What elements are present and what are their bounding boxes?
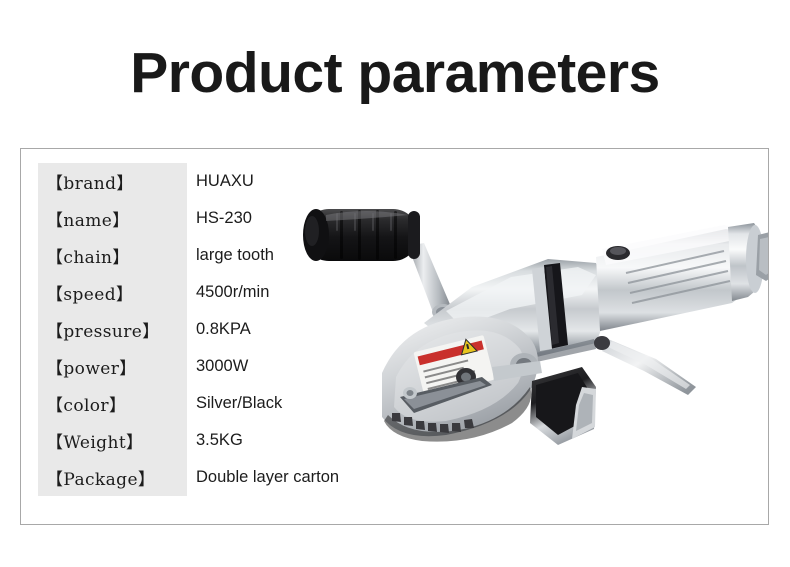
spec-value: HUAXU <box>187 163 339 200</box>
table-row: 【name】 HS-230 <box>38 200 339 237</box>
spec-value: Double layer carton <box>187 459 339 496</box>
table-row: 【brand】 HUAXU <box>38 163 339 200</box>
table-row: 【Package】 Double layer carton <box>38 459 339 496</box>
spec-value: HS-230 <box>187 200 339 237</box>
table-row: 【speed】 4500r/min <box>38 274 339 311</box>
spec-label: 【speed】 <box>38 274 187 311</box>
spec-label: 【Weight】 <box>38 422 187 459</box>
spec-label: 【Package】 <box>38 459 187 496</box>
spec-label: 【power】 <box>38 348 187 385</box>
spec-value: 4500r/min <box>187 274 339 311</box>
table-row: 【Weight】 3.5KG <box>38 422 339 459</box>
spec-label: 【color】 <box>38 385 187 422</box>
spec-label: 【brand】 <box>38 163 187 200</box>
spec-table: 【brand】 HUAXU 【name】 HS-230 【chain】 larg… <box>38 163 339 496</box>
spec-value: Silver/Black <box>187 385 339 422</box>
spec-value: 3.5KG <box>187 422 339 459</box>
table-row: 【color】 Silver/Black <box>38 385 339 422</box>
spec-label: 【chain】 <box>38 237 187 274</box>
page-title: Product parameters <box>0 44 790 104</box>
table-row: 【power】 3000W <box>38 348 339 385</box>
spec-value: large tooth <box>187 237 339 274</box>
table-row: 【chain】 large tooth <box>38 237 339 274</box>
spec-label: 【name】 <box>38 200 187 237</box>
spec-card: 【brand】 HUAXU 【name】 HS-230 【chain】 larg… <box>20 148 769 525</box>
table-row: 【pressure】 0.8KPA <box>38 311 339 348</box>
spec-value: 3000W <box>187 348 339 385</box>
spec-value: 0.8KPA <box>187 311 339 348</box>
spec-label: 【pressure】 <box>38 311 187 348</box>
product-image <box>296 191 769 456</box>
